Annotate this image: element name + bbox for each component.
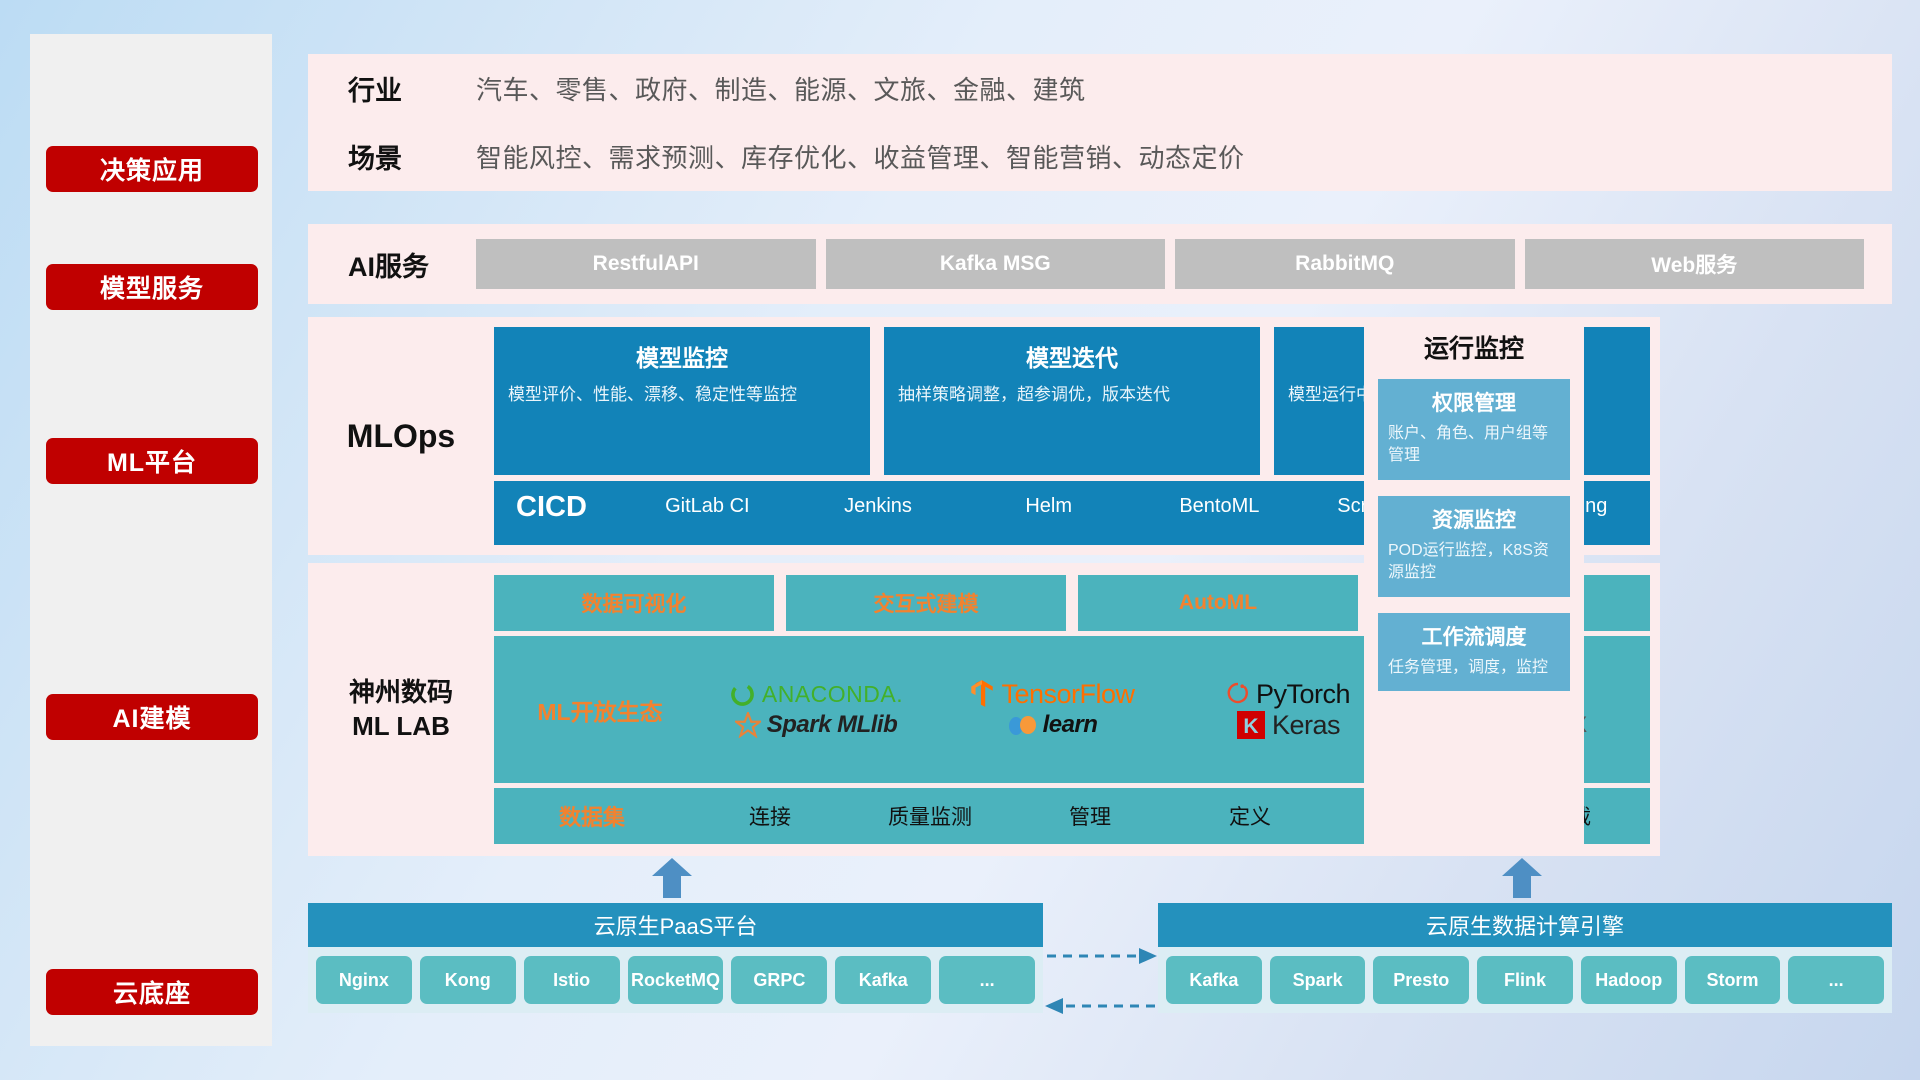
scenario-row: 场景 智能风控、需求预测、库存优化、收益管理、智能营销、动态定价	[308, 123, 1892, 192]
keras-mark-icon: K	[1236, 710, 1266, 740]
scikit-learn-logo: learn	[1007, 711, 1098, 739]
ml-lab-label-line1: 神州数码	[349, 676, 453, 710]
tensorflow-wordmark: TensorFlow	[1001, 679, 1134, 710]
paas-items: Nginx Kong Istio RocketMQ GRPC Kafka ...	[308, 947, 1043, 1013]
tensorflow-mark-icon	[969, 679, 995, 709]
dataset-item-quality-monitor[interactable]: 质量监测	[850, 801, 1010, 831]
data-compute-engine-panel: 云原生数据计算引擎 Kafka Spark Presto Flink Hadoo…	[1158, 903, 1892, 1013]
layer-chip-ai-modeling[interactable]: AI建模	[46, 694, 258, 740]
paas-chip-istio[interactable]: Istio	[524, 956, 620, 1004]
monitor-card-desc: 账户、角色、用户组等管理	[1388, 423, 1560, 468]
tool-chip-data-visualization[interactable]: 数据可视化	[494, 575, 774, 631]
paas-chip-nginx[interactable]: Nginx	[316, 956, 412, 1004]
up-arrow-dce-icon	[1500, 858, 1544, 898]
pytorch-mark-icon	[1226, 680, 1250, 708]
ai-service-chip-restfulapi[interactable]: RestfulAPI	[476, 239, 816, 289]
pytorch-wordmark: PyTorch	[1256, 679, 1350, 710]
ml-lab-label: 神州数码 ML LAB	[308, 563, 494, 856]
dce-chip-hadoop[interactable]: Hadoop	[1581, 956, 1677, 1004]
runtime-monitoring-panel: 运行监控 权限管理 账户、角色、用户组等管理 资源监控 POD运行监控，K8S资…	[1364, 317, 1584, 856]
tool-chip-automl[interactable]: AutoML	[1078, 575, 1358, 631]
paas-chip-grpc[interactable]: GRPC	[731, 956, 827, 1004]
anaconda-logo: ANACONDA.	[729, 681, 903, 708]
mlops-card-desc: 模型评价、性能、漂移、稳定性等监控	[508, 383, 856, 408]
dce-chip-presto[interactable]: Presto	[1373, 956, 1469, 1004]
cicd-item-helm[interactable]: Helm	[965, 491, 1132, 517]
cicd-title: CICD	[516, 491, 620, 524]
keras-logo: K Keras	[1236, 710, 1340, 741]
spark-star-icon	[735, 712, 761, 738]
industry-label: 行业	[348, 69, 476, 108]
layer-chip-decision-app[interactable]: 决策应用	[46, 146, 258, 192]
dce-chip-more[interactable]: ...	[1788, 956, 1884, 1004]
dce-title: 云原生数据计算引擎	[1158, 903, 1892, 947]
monitor-card-permission[interactable]: 权限管理 账户、角色、用户组等管理	[1378, 379, 1570, 480]
dce-chip-flink[interactable]: Flink	[1477, 956, 1573, 1004]
ai-service-label: AI服务	[308, 245, 476, 284]
mlops-card-title: 模型监控	[508, 339, 856, 373]
monitor-card-desc: POD运行监控，K8S资源监控	[1388, 540, 1560, 585]
monitor-card-workflow[interactable]: 工作流调度 任务管理，调度，监控	[1378, 613, 1570, 691]
dce-chip-storm[interactable]: Storm	[1685, 956, 1781, 1004]
scenario-value: 智能风控、需求预测、库存优化、收益管理、智能营销、动态定价	[476, 138, 1245, 175]
anaconda-wordmark: ANACONDA.	[762, 681, 903, 708]
ml-ecosystem-label: ML开放生态	[502, 693, 698, 727]
anaconda-mark-icon	[729, 681, 756, 708]
mlops-card-model-iteration[interactable]: 模型迭代 抽样策略调整，超参调优，版本迭代	[884, 327, 1260, 475]
paas-dce-connector	[1043, 940, 1159, 1030]
dataset-label: 数据集	[494, 800, 690, 832]
layer-rail: 决策应用 模型服务 ML平台 AI建模 云底座	[30, 34, 272, 1046]
cicd-item-jenkins[interactable]: Jenkins	[795, 491, 962, 517]
dataset-item-connect[interactable]: 连接	[690, 801, 850, 831]
layer-chip-cloud-base[interactable]: 云底座	[46, 969, 258, 1015]
paas-chip-more[interactable]: ...	[939, 956, 1035, 1004]
scikit-learn-mark-icon	[1007, 711, 1037, 739]
industry-row: 行业 汽车、零售、政府、制造、能源、文旅、金融、建筑	[308, 54, 1892, 123]
paas-chip-kong[interactable]: Kong	[420, 956, 516, 1004]
monitor-card-title: 权限管理	[1388, 387, 1560, 417]
runtime-monitoring-title: 运行监控	[1378, 329, 1570, 365]
monitor-card-desc: 任务管理，调度，监控	[1388, 657, 1560, 679]
ai-service-chip-kafka-msg[interactable]: Kafka MSG	[826, 239, 1166, 289]
dce-chip-spark[interactable]: Spark	[1270, 956, 1366, 1004]
ai-service-chip-web[interactable]: Web服务	[1525, 239, 1865, 289]
spark-mllib-wordmark: Spark MLlib	[767, 711, 898, 739]
ai-service-band: AI服务 RestfulAPI Kafka MSG RabbitMQ Web服务	[308, 224, 1892, 304]
ml-lab-label-line2: ML LAB	[352, 710, 450, 744]
scenario-label: 场景	[348, 137, 476, 176]
ai-service-items: RestfulAPI Kafka MSG RabbitMQ Web服务	[476, 239, 1892, 289]
cicd-item-gitlab-ci[interactable]: GitLab CI	[624, 491, 791, 517]
scikit-learn-wordmark: learn	[1043, 711, 1098, 739]
dataset-item-manage[interactable]: 管理	[1010, 801, 1170, 831]
cicd-item-bentoml[interactable]: BentoML	[1136, 491, 1303, 517]
up-arrow-paas-icon	[650, 858, 694, 898]
paas-chip-kafka[interactable]: Kafka	[835, 956, 931, 1004]
monitor-card-resource[interactable]: 资源监控 POD运行监控，K8S资源监控	[1378, 496, 1570, 597]
layer-chip-model-service[interactable]: 模型服务	[46, 264, 258, 310]
pytorch-logo: PyTorch	[1226, 679, 1350, 710]
dce-items: Kafka Spark Presto Flink Hadoop Storm ..…	[1158, 947, 1892, 1013]
paas-panel: 云原生PaaS平台 Nginx Kong Istio RocketMQ GRPC…	[308, 903, 1043, 1013]
ai-service-chip-rabbitmq[interactable]: RabbitMQ	[1175, 239, 1515, 289]
dce-chip-kafka[interactable]: Kafka	[1166, 956, 1262, 1004]
tool-chip-interactive-modeling[interactable]: 交互式建模	[786, 575, 1066, 631]
paas-title: 云原生PaaS平台	[308, 903, 1043, 947]
mlops-card-model-monitor[interactable]: 模型监控 模型评价、性能、漂移、稳定性等监控	[494, 327, 870, 475]
mlops-label: MLOps	[308, 317, 494, 555]
industry-scenario-band: 行业 汽车、零售、政府、制造、能源、文旅、金融、建筑 场景 智能风控、需求预测、…	[308, 54, 1892, 191]
paas-chip-rocketmq[interactable]: RocketMQ	[628, 956, 724, 1004]
spark-mllib-logo: Spark MLlib	[735, 711, 898, 739]
monitor-card-title: 工作流调度	[1388, 621, 1560, 651]
dataset-item-define[interactable]: 定义	[1170, 801, 1330, 831]
svg-text:K: K	[1243, 715, 1258, 738]
mlops-card-title: 模型迭代	[898, 339, 1246, 373]
keras-wordmark: Keras	[1272, 710, 1340, 741]
mlops-card-desc: 抽样策略调整，超参调优，版本迭代	[898, 383, 1246, 408]
layer-chip-ml-platform[interactable]: ML平台	[46, 438, 258, 484]
industry-value: 汽车、零售、政府、制造、能源、文旅、金融、建筑	[476, 70, 1086, 107]
tensorflow-logo: TensorFlow	[969, 679, 1134, 710]
monitor-card-title: 资源监控	[1388, 504, 1560, 534]
